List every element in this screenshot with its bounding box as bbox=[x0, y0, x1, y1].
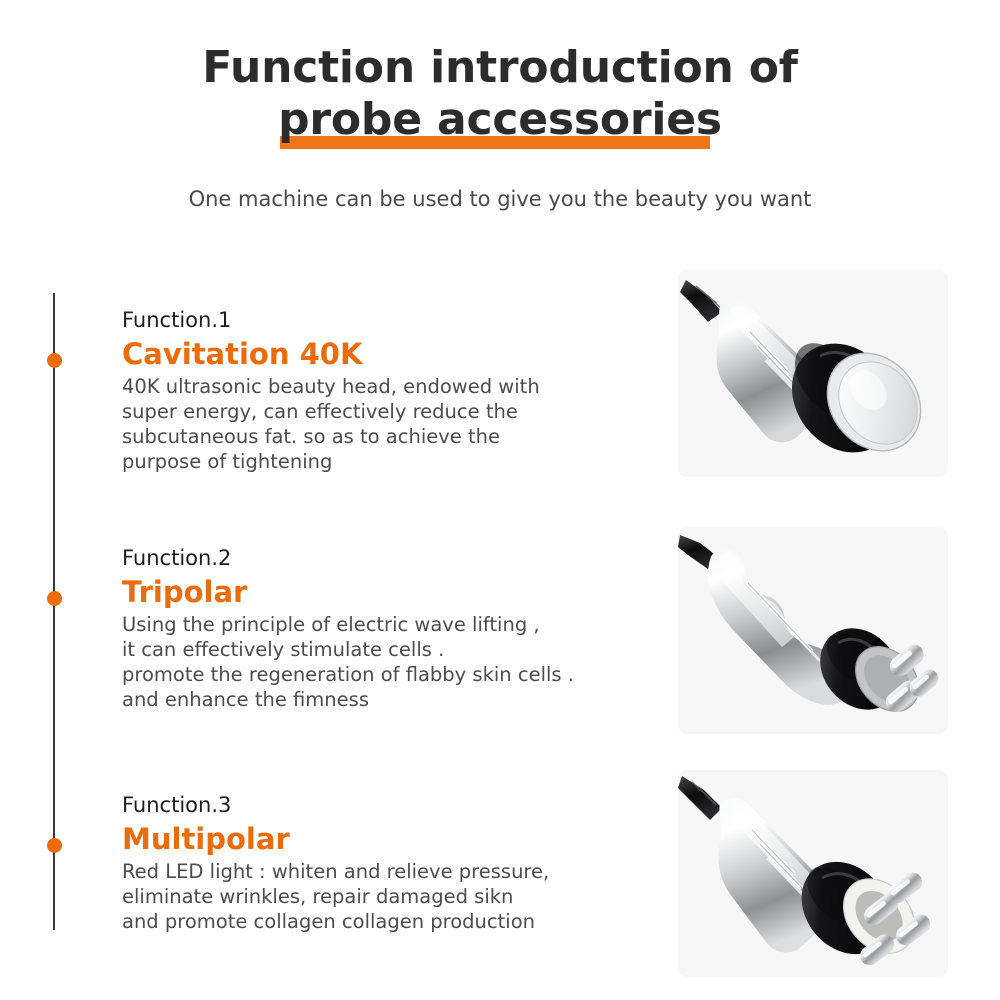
tripolar-probe-image bbox=[678, 527, 948, 734]
function-index-label-3: Function.3 bbox=[122, 792, 667, 819]
timeline-dot-2 bbox=[47, 591, 62, 606]
function-description-1: 40K ultrasonic beauty head, endowed with… bbox=[122, 374, 667, 474]
function-block-1: Function.1 Cavitation 40K 40K ultrasonic… bbox=[122, 307, 667, 474]
timeline-dot-1 bbox=[47, 353, 62, 368]
function-description-2: Using the principle of electric wave lif… bbox=[122, 612, 667, 712]
multipolar-probe-image bbox=[678, 770, 948, 977]
function-block-3: Function.3 Multipolar Red LED light : wh… bbox=[122, 792, 667, 934]
page-header: Function introduction of probe accessori… bbox=[0, 42, 1000, 146]
infographic-page: Function introduction of probe accessori… bbox=[0, 0, 1000, 1000]
product-panel-cavitation-40k bbox=[678, 270, 948, 477]
page-title-line-1: Function introduction of bbox=[0, 42, 1000, 94]
function-name-1: Cavitation 40K bbox=[122, 336, 667, 372]
page-title-line-2: probe accessories bbox=[278, 94, 722, 146]
function-index-label-2: Function.2 bbox=[122, 545, 667, 572]
cavitation-40k-probe-image bbox=[678, 270, 948, 477]
timeline-dot-3 bbox=[47, 838, 62, 853]
function-name-3: Multipolar bbox=[122, 821, 667, 857]
product-panel-multipolar bbox=[678, 770, 948, 977]
page-subtitle: One machine can be used to give you the … bbox=[0, 185, 1000, 213]
function-description-3: Red LED light : whiten and relieve press… bbox=[122, 859, 667, 934]
page-title-line-2-wrap: probe accessories bbox=[0, 94, 1000, 146]
product-panel-tripolar bbox=[678, 527, 948, 734]
timeline-vertical-line bbox=[53, 293, 55, 930]
function-index-label-1: Function.1 bbox=[122, 307, 667, 334]
function-name-2: Tripolar bbox=[122, 574, 667, 610]
function-block-2: Function.2 Tripolar Using the principle … bbox=[122, 545, 667, 712]
